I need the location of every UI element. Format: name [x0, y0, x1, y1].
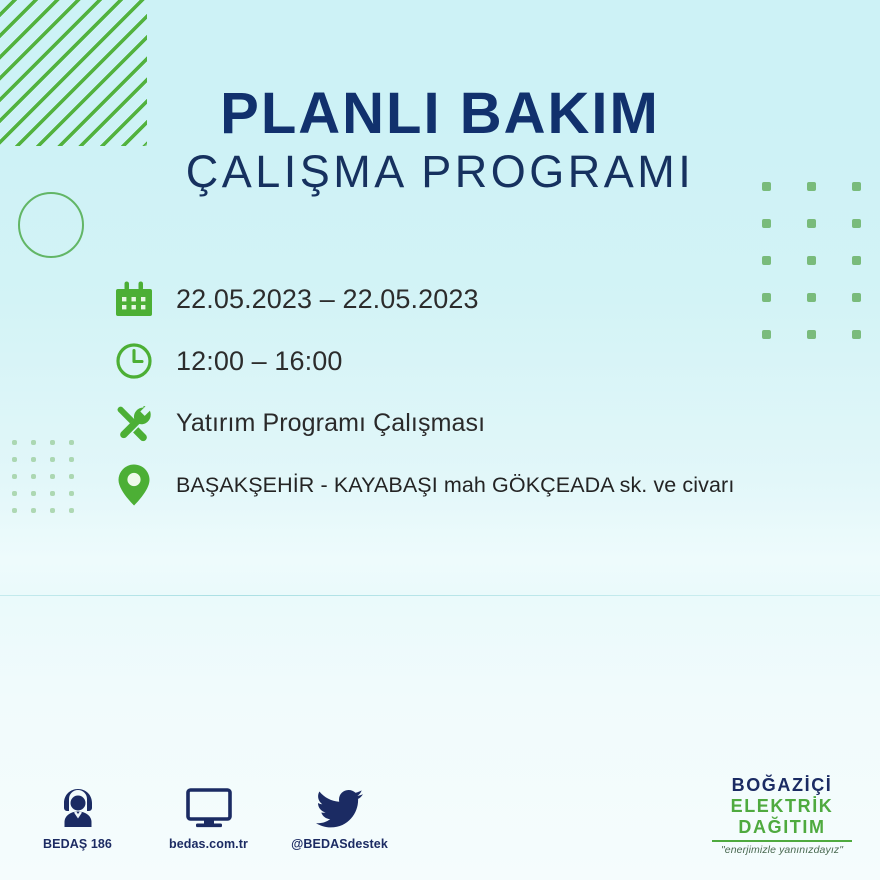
- dot: [12, 457, 17, 462]
- dot: [762, 256, 771, 265]
- date-range-value: 22.05.2023 – 22.05.2023: [176, 284, 479, 315]
- dot: [807, 256, 816, 265]
- dot: [50, 457, 55, 462]
- footer-contacts: BEDAŞ 186 bedas.com.tr @BEDASdestek: [30, 784, 387, 851]
- contact-website[interactable]: bedas.com.tr: [161, 784, 256, 851]
- section-divider: [0, 595, 880, 596]
- detail-row-date: 22.05.2023 – 22.05.2023: [114, 268, 814, 330]
- dot: [69, 508, 74, 513]
- work-type-value: Yatırım Programı Çalışması: [176, 409, 485, 438]
- dot: [762, 219, 771, 228]
- dot: [69, 474, 74, 479]
- contact-phone-label: BEDAŞ 186: [43, 837, 112, 851]
- location-value: BAŞAKŞEHİR - KAYABAŞI mah GÖKÇEADA sk. v…: [176, 473, 734, 498]
- dot: [12, 491, 17, 496]
- brand-underline: [712, 840, 852, 842]
- contact-website-label: bedas.com.tr: [169, 837, 248, 851]
- dot: [31, 508, 36, 513]
- dot-grid-left-decoration: [12, 440, 88, 525]
- dot: [807, 219, 816, 228]
- brand-line-2: ELEKTRİK: [706, 797, 858, 815]
- poster-header: PLANLI BAKIM ÇALIŞMA PROGRAMI: [0, 84, 880, 196]
- dot: [852, 330, 861, 339]
- brand-line-3: DAĞITIM: [706, 818, 858, 836]
- page-title: PLANLI BAKIM: [0, 84, 880, 143]
- page-subtitle: ÇALIŞMA PROGRAMI: [0, 149, 880, 196]
- dot: [69, 491, 74, 496]
- location-pin-icon: [114, 463, 176, 507]
- dot: [31, 474, 36, 479]
- dot: [31, 457, 36, 462]
- dot: [12, 440, 17, 445]
- dot: [50, 474, 55, 479]
- dot: [31, 491, 36, 496]
- dot: [69, 440, 74, 445]
- detail-row-work-type: Yatırım Programı Çalışması: [114, 392, 814, 454]
- contact-phone[interactable]: BEDAŞ 186: [30, 784, 125, 851]
- monitor-icon: [184, 784, 234, 830]
- calendar-icon: [114, 279, 176, 319]
- circle-outline-decoration: [18, 192, 84, 258]
- dot: [12, 474, 17, 479]
- dot: [50, 440, 55, 445]
- dot: [852, 256, 861, 265]
- brand-logo: BOĞAZİÇİ ELEKTRİK DAĞITIM "enerjimizle y…: [706, 776, 858, 856]
- dot: [852, 293, 861, 302]
- dot: [31, 440, 36, 445]
- dot: [12, 508, 17, 513]
- twitter-bird-icon: [316, 784, 364, 830]
- time-range-value: 12:00 – 16:00: [176, 346, 342, 377]
- brand-tagline: "enerjimizle yanınızdayız": [706, 845, 858, 856]
- tools-icon: [114, 403, 176, 443]
- contact-twitter[interactable]: @BEDASdestek: [292, 784, 387, 851]
- clock-icon: [114, 341, 176, 381]
- dot: [50, 508, 55, 513]
- contact-twitter-label: @BEDASdestek: [291, 837, 388, 851]
- outage-details-list: 22.05.2023 – 22.05.2023 12:00 – 16:00 Ya…: [114, 268, 814, 516]
- dot: [852, 219, 861, 228]
- dot: [69, 457, 74, 462]
- poster-canvas: PLANLI BAKIM ÇALIŞMA PROGRAMI 22.05.2023…: [0, 0, 880, 880]
- detail-row-location: BAŞAKŞEHİR - KAYABAŞI mah GÖKÇEADA sk. v…: [114, 454, 814, 516]
- headset-support-icon: [55, 784, 101, 830]
- detail-row-time: 12:00 – 16:00: [114, 330, 814, 392]
- dot: [50, 491, 55, 496]
- brand-line-1: BOĞAZİÇİ: [706, 776, 858, 794]
